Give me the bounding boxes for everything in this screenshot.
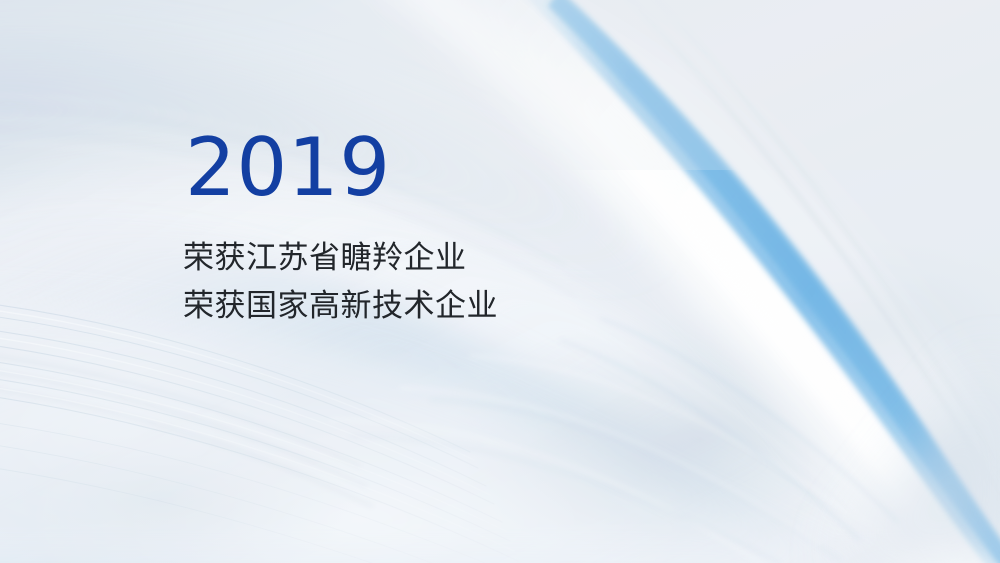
year-heading: 2019 (185, 128, 823, 208)
award-line-2: 荣获国家高新技术企业 (183, 282, 823, 330)
slide-canvas: 2019 荣获江苏省瞊羚企业 荣获国家高新技术企业 (0, 0, 1000, 563)
award-lines-group: 荣获江苏省瞊羚企业 荣获国家高新技术企业 (183, 234, 823, 330)
slide-text-block: 2019 荣获江苏省瞊羚企业 荣获国家高新技术企业 (183, 128, 823, 330)
award-line-1: 荣获江苏省瞊羚企业 (183, 234, 823, 282)
